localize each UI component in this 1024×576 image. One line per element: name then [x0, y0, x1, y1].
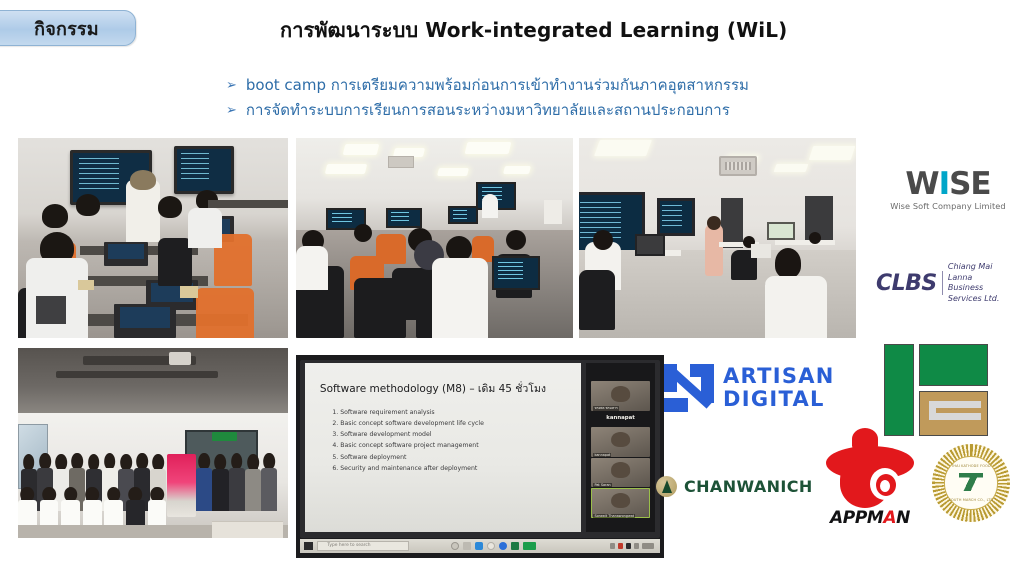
- system-tray: [610, 543, 654, 549]
- wise-letter-w: W: [905, 166, 938, 202]
- presentation-slide: Software methodology (M8) – เดิม 45 ชั่ว…: [305, 363, 582, 533]
- appman-wordmark-pre: APPM: [830, 508, 883, 528]
- meeting-participant-panel: ทรงพล พรมหาร kannapat kannapat Pat Saran…: [586, 363, 655, 533]
- green-blocks-logo: [884, 344, 988, 436]
- wise-logo: WISE Wise Soft Company Limited: [884, 168, 1012, 211]
- slide-bullet: 6. Security and maintenance after deploy…: [332, 463, 570, 474]
- slide-title: Software methodology (M8) – เดิม 45 ชั่ว…: [320, 380, 546, 397]
- slide-bullet: 4. Basic concept software project manage…: [332, 440, 570, 451]
- seal-ring-text-top: THAI KATHODE FOOD: [932, 464, 1010, 468]
- bullet-list: ➢ boot camp การเตรียมความพร้อมก่อนการเข้…: [226, 74, 926, 124]
- arrow-bullet-icon: ➢: [226, 75, 237, 96]
- clbs-tagline-line2: Business Services Ltd.: [948, 283, 1016, 304]
- participant-name: Pat Saran: [593, 483, 611, 487]
- clbs-logo: CLBS Chiang Mai Lanna Business Services …: [876, 262, 1016, 304]
- tray-network-icon[interactable]: [634, 543, 639, 549]
- appman-wordmark: APPMAN: [818, 508, 922, 528]
- clbs-monogram: CLBS: [876, 271, 937, 296]
- bullet-text: การจัดทำระบบการเรียนการสอนระหว่างมหาวิทย…: [246, 99, 730, 121]
- slide-canvas: กิจกรรม การพัฒนาระบบ Work-integrated Lea…: [0, 0, 1024, 576]
- photo-online-session: Software methodology (M8) – เดิม 45 ชั่ว…: [296, 355, 664, 558]
- edge-icon[interactable]: [487, 542, 495, 550]
- tan-block-bottom-right: [919, 391, 988, 436]
- slide-bullet: 2. Basic concept software development li…: [332, 418, 570, 429]
- cortana-icon[interactable]: [451, 542, 459, 550]
- participant-tile-active[interactable]: Sorawit Thanawongwat: [591, 488, 649, 518]
- participant-name: Sorawit Thanawongwat: [593, 514, 635, 518]
- artisan-line2: DIGITAL: [723, 388, 835, 411]
- green-block-left: [884, 344, 914, 436]
- excel-icon[interactable]: [511, 542, 519, 550]
- tray-alert-icon[interactable]: [618, 543, 623, 549]
- wise-tagline: Wise Soft Company Limited: [884, 201, 1012, 211]
- section-tab-label: กิจกรรม: [22, 14, 99, 43]
- chanwanich-logo: CHANWANICH: [656, 476, 831, 497]
- seal-ring-text-bottom: SOUTH MARCH CO., LTD: [932, 498, 1010, 502]
- active-speaker-name: kannapat: [586, 415, 655, 421]
- photo-group-photo: [18, 348, 288, 538]
- clbs-tagline-line1: Chiang Mai Lanna: [948, 262, 1016, 283]
- task-view-icon[interactable]: [463, 542, 471, 550]
- appman-wordmark-accent: A: [883, 508, 896, 528]
- participant-tile[interactable]: kannapat: [591, 427, 649, 457]
- participant-tile[interactable]: ทรงพล พรมหาร: [591, 381, 649, 411]
- gold-seal-logo: THAI KATHODE FOOD SOUTH MARCH CO., LTD: [932, 444, 1010, 522]
- arrow-bullet-icon: ➢: [226, 100, 237, 121]
- artisan-line1: ARTISAN: [723, 365, 835, 388]
- artisan-wordmark: ARTISAN DIGITAL: [723, 365, 835, 411]
- chanwanich-tree-icon: [656, 476, 677, 497]
- bullet-text: boot camp การเตรียมความพร้อมก่อนการเข้าท…: [246, 74, 749, 96]
- search-placeholder: Type here to search: [318, 543, 370, 548]
- chanwanich-wordmark: CHANWANICH: [684, 477, 813, 496]
- wise-letter-i: I: [939, 166, 950, 202]
- green-block-top-right: [919, 344, 988, 386]
- windows-start-icon[interactable]: [304, 542, 313, 550]
- artisan-digital-logo: ARTISAN DIGITAL: [664, 364, 860, 412]
- wise-letters-se: SE: [949, 166, 991, 202]
- slide-bullet-list: 1. Software requirement analysis 2. Basi…: [332, 407, 570, 474]
- photo-computer-lab: [579, 138, 856, 338]
- slide-bullet: 1. Software requirement analysis: [332, 407, 570, 418]
- slide-bullet: 3. Software development model: [332, 429, 570, 440]
- appman-wordmark-post: N: [896, 508, 910, 528]
- photo-classroom-laptops: [18, 138, 288, 338]
- tray-chevron-icon[interactable]: [610, 543, 615, 549]
- tray-battery-icon[interactable]: [626, 543, 631, 549]
- list-item: ➢ boot camp การเตรียมความพร้อมก่อนการเข้…: [226, 74, 926, 96]
- slide-bullet: 5. Software deployment: [332, 452, 570, 463]
- tray-clock[interactable]: [642, 543, 654, 549]
- participant-name: kannapat: [593, 453, 611, 457]
- photo-lecture-room: [296, 138, 573, 338]
- chrome-icon[interactable]: [499, 542, 507, 550]
- participant-tile[interactable]: Pat Saran: [591, 458, 649, 488]
- list-item: ➢ การจัดทำระบบการเรียนการสอนระหว่างมหาวิ…: [226, 99, 926, 121]
- search-input[interactable]: Type here to search: [317, 541, 409, 551]
- clbs-tagline: Chiang Mai Lanna Business Services Ltd.: [948, 262, 1016, 304]
- teams-icon[interactable]: [475, 542, 483, 550]
- line-icon[interactable]: [523, 542, 536, 550]
- taskbar-pinned-apps: [451, 542, 536, 550]
- page-title: การพัฒนาระบบ Work-integrated Learning (W…: [280, 14, 750, 46]
- divider: [942, 271, 943, 295]
- section-tab-activity[interactable]: กิจกรรม: [0, 10, 136, 46]
- wise-wordmark: WISE: [884, 168, 1012, 200]
- appman-logo: APPMAN: [818, 428, 922, 528]
- participant-name: ทรงพล พรมหาร: [593, 406, 618, 411]
- windows-taskbar: Type here to search: [300, 539, 659, 553]
- artisan-mark-icon: [664, 364, 714, 412]
